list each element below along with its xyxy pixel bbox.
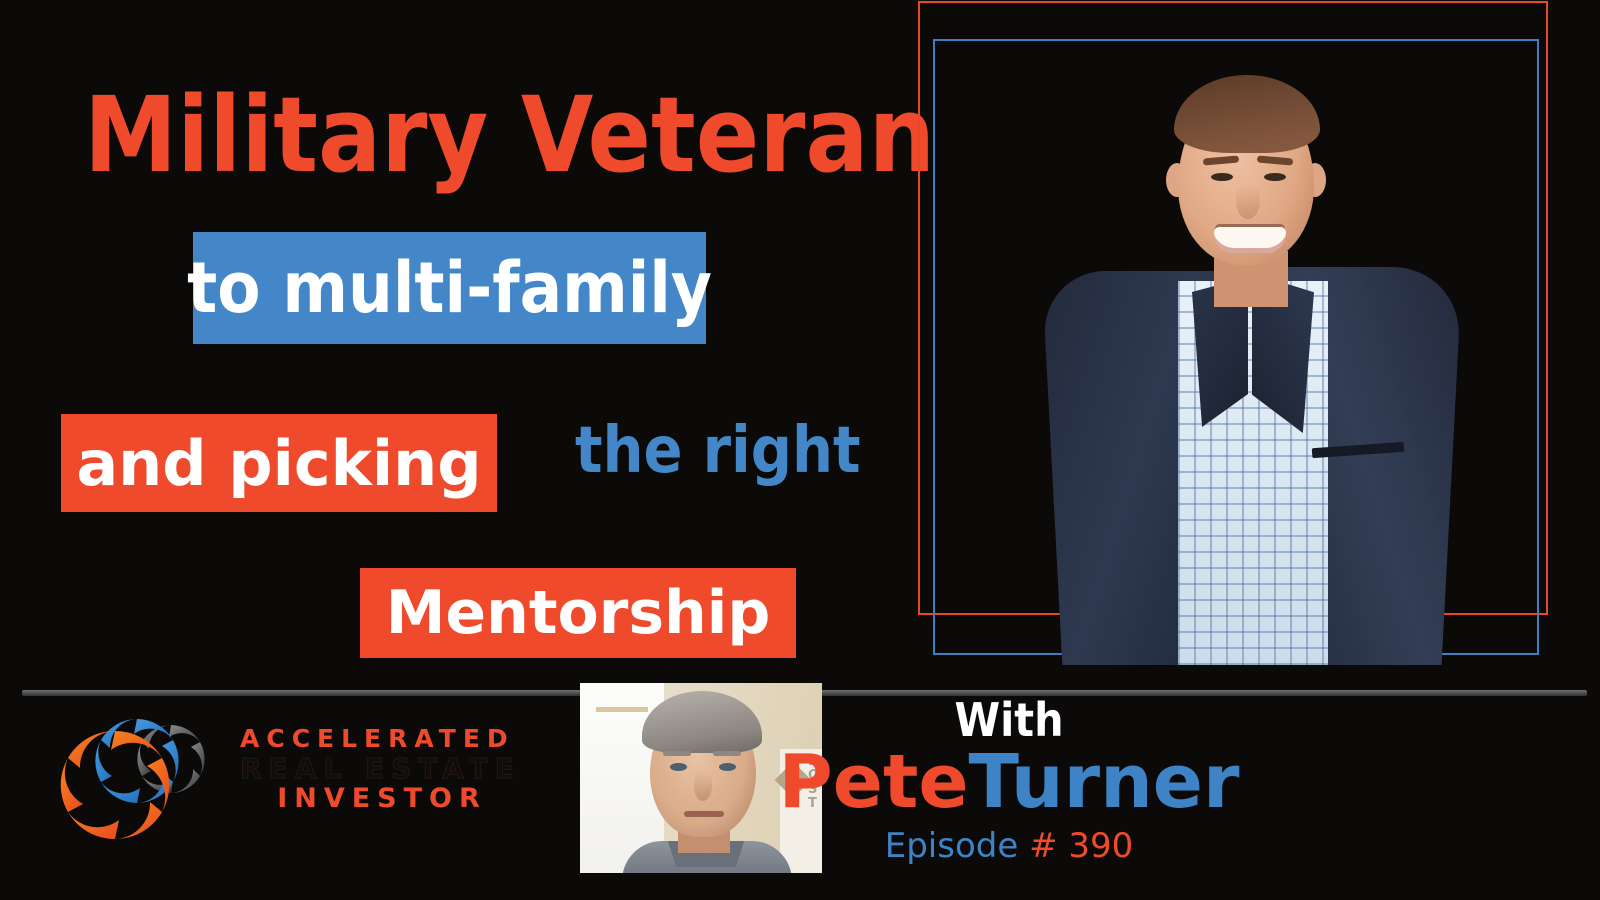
with-label: With: [0, 697, 1600, 743]
podcast-episode-cover: Military Veteran to multi-family and pic…: [0, 0, 1600, 900]
host-name: PeteTurner: [0, 745, 1600, 819]
title-line-5-highlight: Mentorship: [360, 568, 796, 658]
title-line-2: to multi-family: [193, 232, 706, 344]
host-first-name: Pete: [779, 739, 969, 825]
host-last-name: Turner: [969, 739, 1240, 825]
episode-label: Episode: [885, 826, 1019, 866]
guest-portrait: [960, 45, 1520, 665]
title-line-4: the right: [575, 419, 861, 483]
guest-nose: [1236, 185, 1260, 219]
guest-smile: [1214, 227, 1286, 253]
episode-line: Episode # 390: [0, 829, 1600, 863]
title-line-3: and picking: [61, 414, 497, 512]
guest-eye-left: [1211, 173, 1233, 181]
guest-hair: [1174, 75, 1320, 153]
title-line-1: Military Veteran: [84, 83, 935, 187]
title-line-2-highlight: to multi-family: [193, 232, 706, 344]
episode-number: # 390: [1029, 826, 1133, 866]
guest-eye-right: [1264, 173, 1286, 181]
title-line-3-highlight: and picking: [61, 414, 497, 512]
title-line-5: Mentorship: [360, 568, 796, 658]
